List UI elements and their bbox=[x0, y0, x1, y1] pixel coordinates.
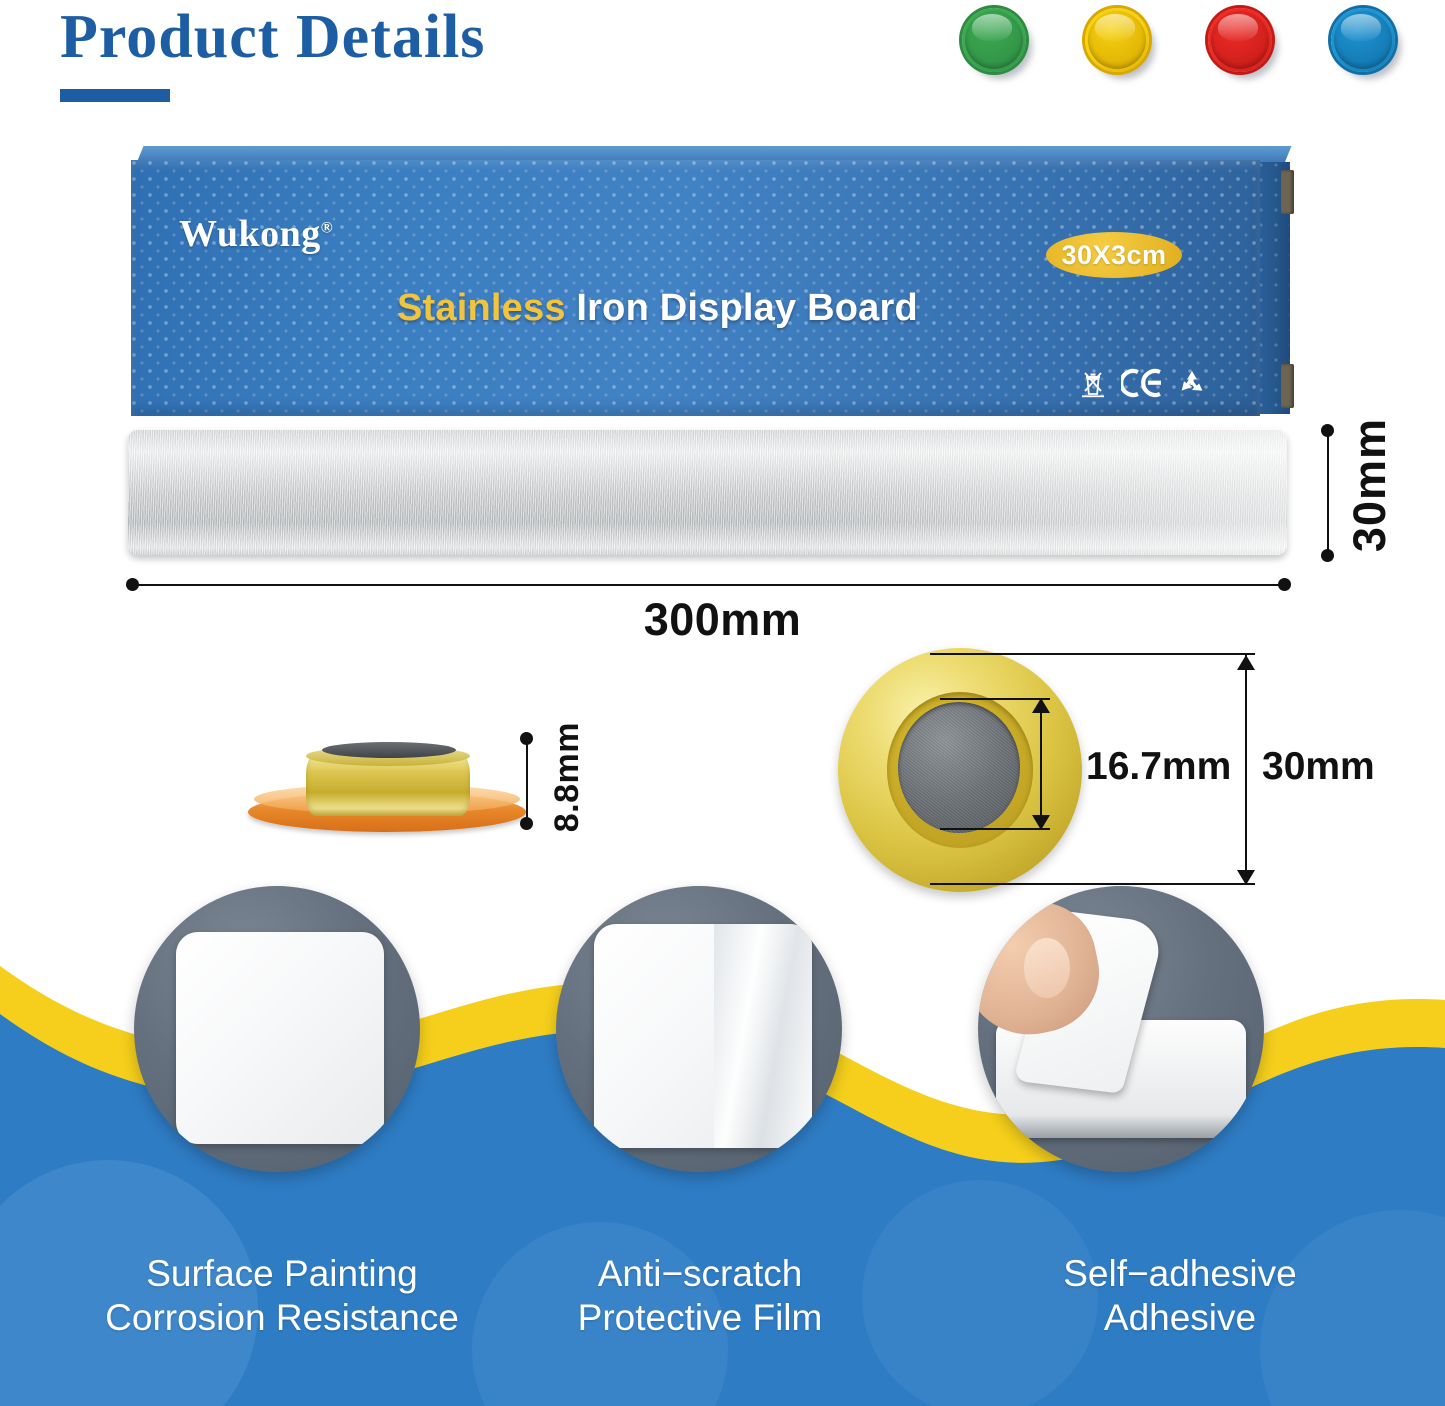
weee-bin-icon bbox=[1080, 368, 1106, 398]
feature-caption-self-adhesive: Self−adhesive Adhesive bbox=[960, 1252, 1400, 1339]
magnet-top-view bbox=[838, 648, 1082, 892]
thickness-dimension-line bbox=[520, 732, 534, 830]
core-dimension-line bbox=[1040, 698, 1042, 830]
package-tagline: Stainless Iron Display Board bbox=[397, 287, 918, 330]
ce-mark-icon bbox=[1121, 368, 1163, 398]
box-flap-bottom bbox=[1281, 364, 1294, 408]
feature-caption-surface-painting: Surface Painting Corrosion Resistance bbox=[32, 1252, 532, 1339]
stainless-steel-bar bbox=[128, 429, 1287, 555]
outer-extension-line-top bbox=[930, 653, 1255, 655]
film-wrinkle bbox=[714, 924, 812, 1148]
outer-dimension-line bbox=[1245, 655, 1247, 885]
height-dimension-line bbox=[1321, 424, 1335, 562]
box-front-face: Wukong® Stainless Iron Display Board 30X… bbox=[131, 160, 1260, 416]
thickness-dimension-label: 8.8mm bbox=[548, 722, 587, 832]
certification-icons bbox=[1080, 368, 1206, 398]
size-badge: 30X3cm bbox=[1046, 232, 1182, 278]
title-underline-rule bbox=[60, 89, 170, 102]
product-package-box: Wukong® Stainless Iron Display Board 30X… bbox=[131, 146, 1291, 416]
core-extension-line-top bbox=[940, 698, 1050, 700]
magnet-core-disc bbox=[898, 702, 1020, 834]
box-side-panel bbox=[1258, 162, 1290, 414]
core-dimension-arrow-top bbox=[1032, 698, 1050, 713]
white-steel-plate-photo bbox=[176, 932, 384, 1144]
core-dimension-label: 16.7mm bbox=[1086, 745, 1231, 789]
magnet-steel-disc bbox=[322, 742, 456, 758]
brand-name: Wukong bbox=[179, 213, 321, 255]
box-flap-top bbox=[1281, 170, 1294, 214]
page-title: Product Details bbox=[60, 2, 485, 73]
outer-dimension-arrow-top bbox=[1237, 655, 1255, 670]
thumbnail bbox=[1024, 938, 1070, 998]
core-extension-line-bottom bbox=[940, 828, 1050, 830]
brand-logo: Wukong® bbox=[179, 212, 333, 256]
magnet-color-swatches bbox=[962, 6, 1382, 78]
tagline-rest: Iron Display Board bbox=[566, 287, 918, 329]
magnet-side-view bbox=[248, 728, 538, 838]
registered-mark: ® bbox=[321, 219, 333, 236]
height-dimension-label: 30mm bbox=[1344, 418, 1396, 552]
length-dimension-label: 300mm bbox=[0, 594, 1445, 646]
red-magnet-dot bbox=[1208, 8, 1272, 72]
feature-caption-anti-scratch-film: Anti−scratch Protective Film bbox=[470, 1252, 930, 1339]
feature-image-self-adhesive bbox=[978, 886, 1264, 1172]
feature-image-surface-painting bbox=[134, 886, 420, 1172]
blue-magnet-dot bbox=[1331, 8, 1395, 72]
features-panel: Surface Painting Corrosion Resistance An… bbox=[0, 880, 1445, 1406]
length-dimension-line bbox=[126, 578, 1291, 592]
protective-film-photo bbox=[594, 924, 812, 1148]
recycle-icon bbox=[1178, 369, 1206, 397]
tagline-highlight: Stainless bbox=[397, 287, 566, 329]
yellow-magnet-dot bbox=[1085, 8, 1149, 72]
outer-dimension-label: 30mm bbox=[1262, 745, 1375, 789]
feature-image-anti-scratch-film bbox=[556, 886, 842, 1172]
green-magnet-dot bbox=[962, 8, 1026, 72]
